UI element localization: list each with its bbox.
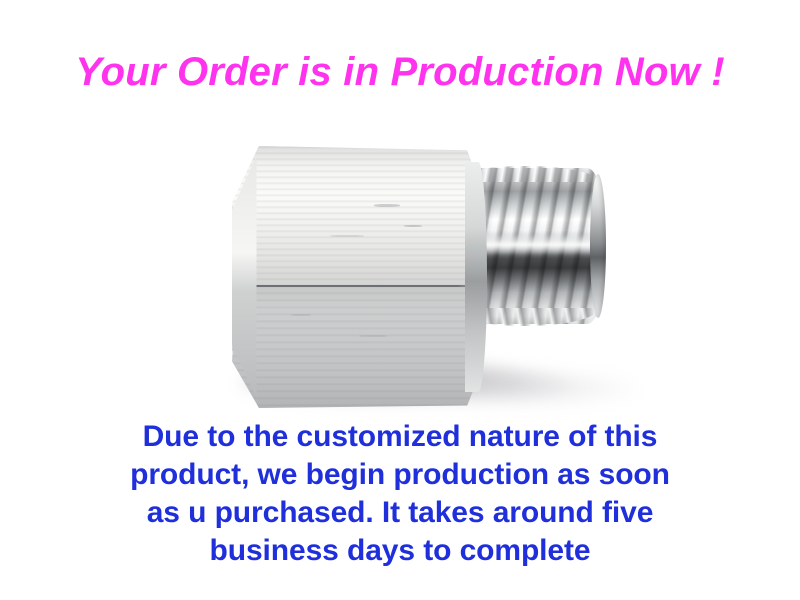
notice-line-3: as u purchased. It takes around five [0, 494, 800, 532]
surface-scuff [404, 225, 422, 227]
product-photo [0, 118, 800, 408]
notice-line-4: business days to complete [0, 532, 800, 570]
production-notice: Due to the customized nature of this pro… [0, 418, 800, 570]
hex-body [232, 146, 477, 408]
hex-shoulder [465, 162, 487, 393]
surface-scuff [374, 204, 400, 207]
promo-banner-page: Your Order is in Production Now ! [0, 0, 800, 600]
thread-end-face [590, 174, 606, 318]
hex-machining-marks-lower [232, 285, 477, 408]
headline-order-in-production: Your Order is in Production Now ! [0, 48, 800, 96]
notice-line-1: Due to the customized nature of this [0, 418, 800, 456]
surface-scuff [330, 235, 364, 237]
hex-machining-marks-upper [232, 146, 477, 287]
surface-scuff [359, 335, 387, 337]
notice-line-2: product, we begin production as soon [0, 456, 800, 494]
surface-scuff [291, 314, 311, 316]
hex-facet-edge [234, 285, 477, 287]
